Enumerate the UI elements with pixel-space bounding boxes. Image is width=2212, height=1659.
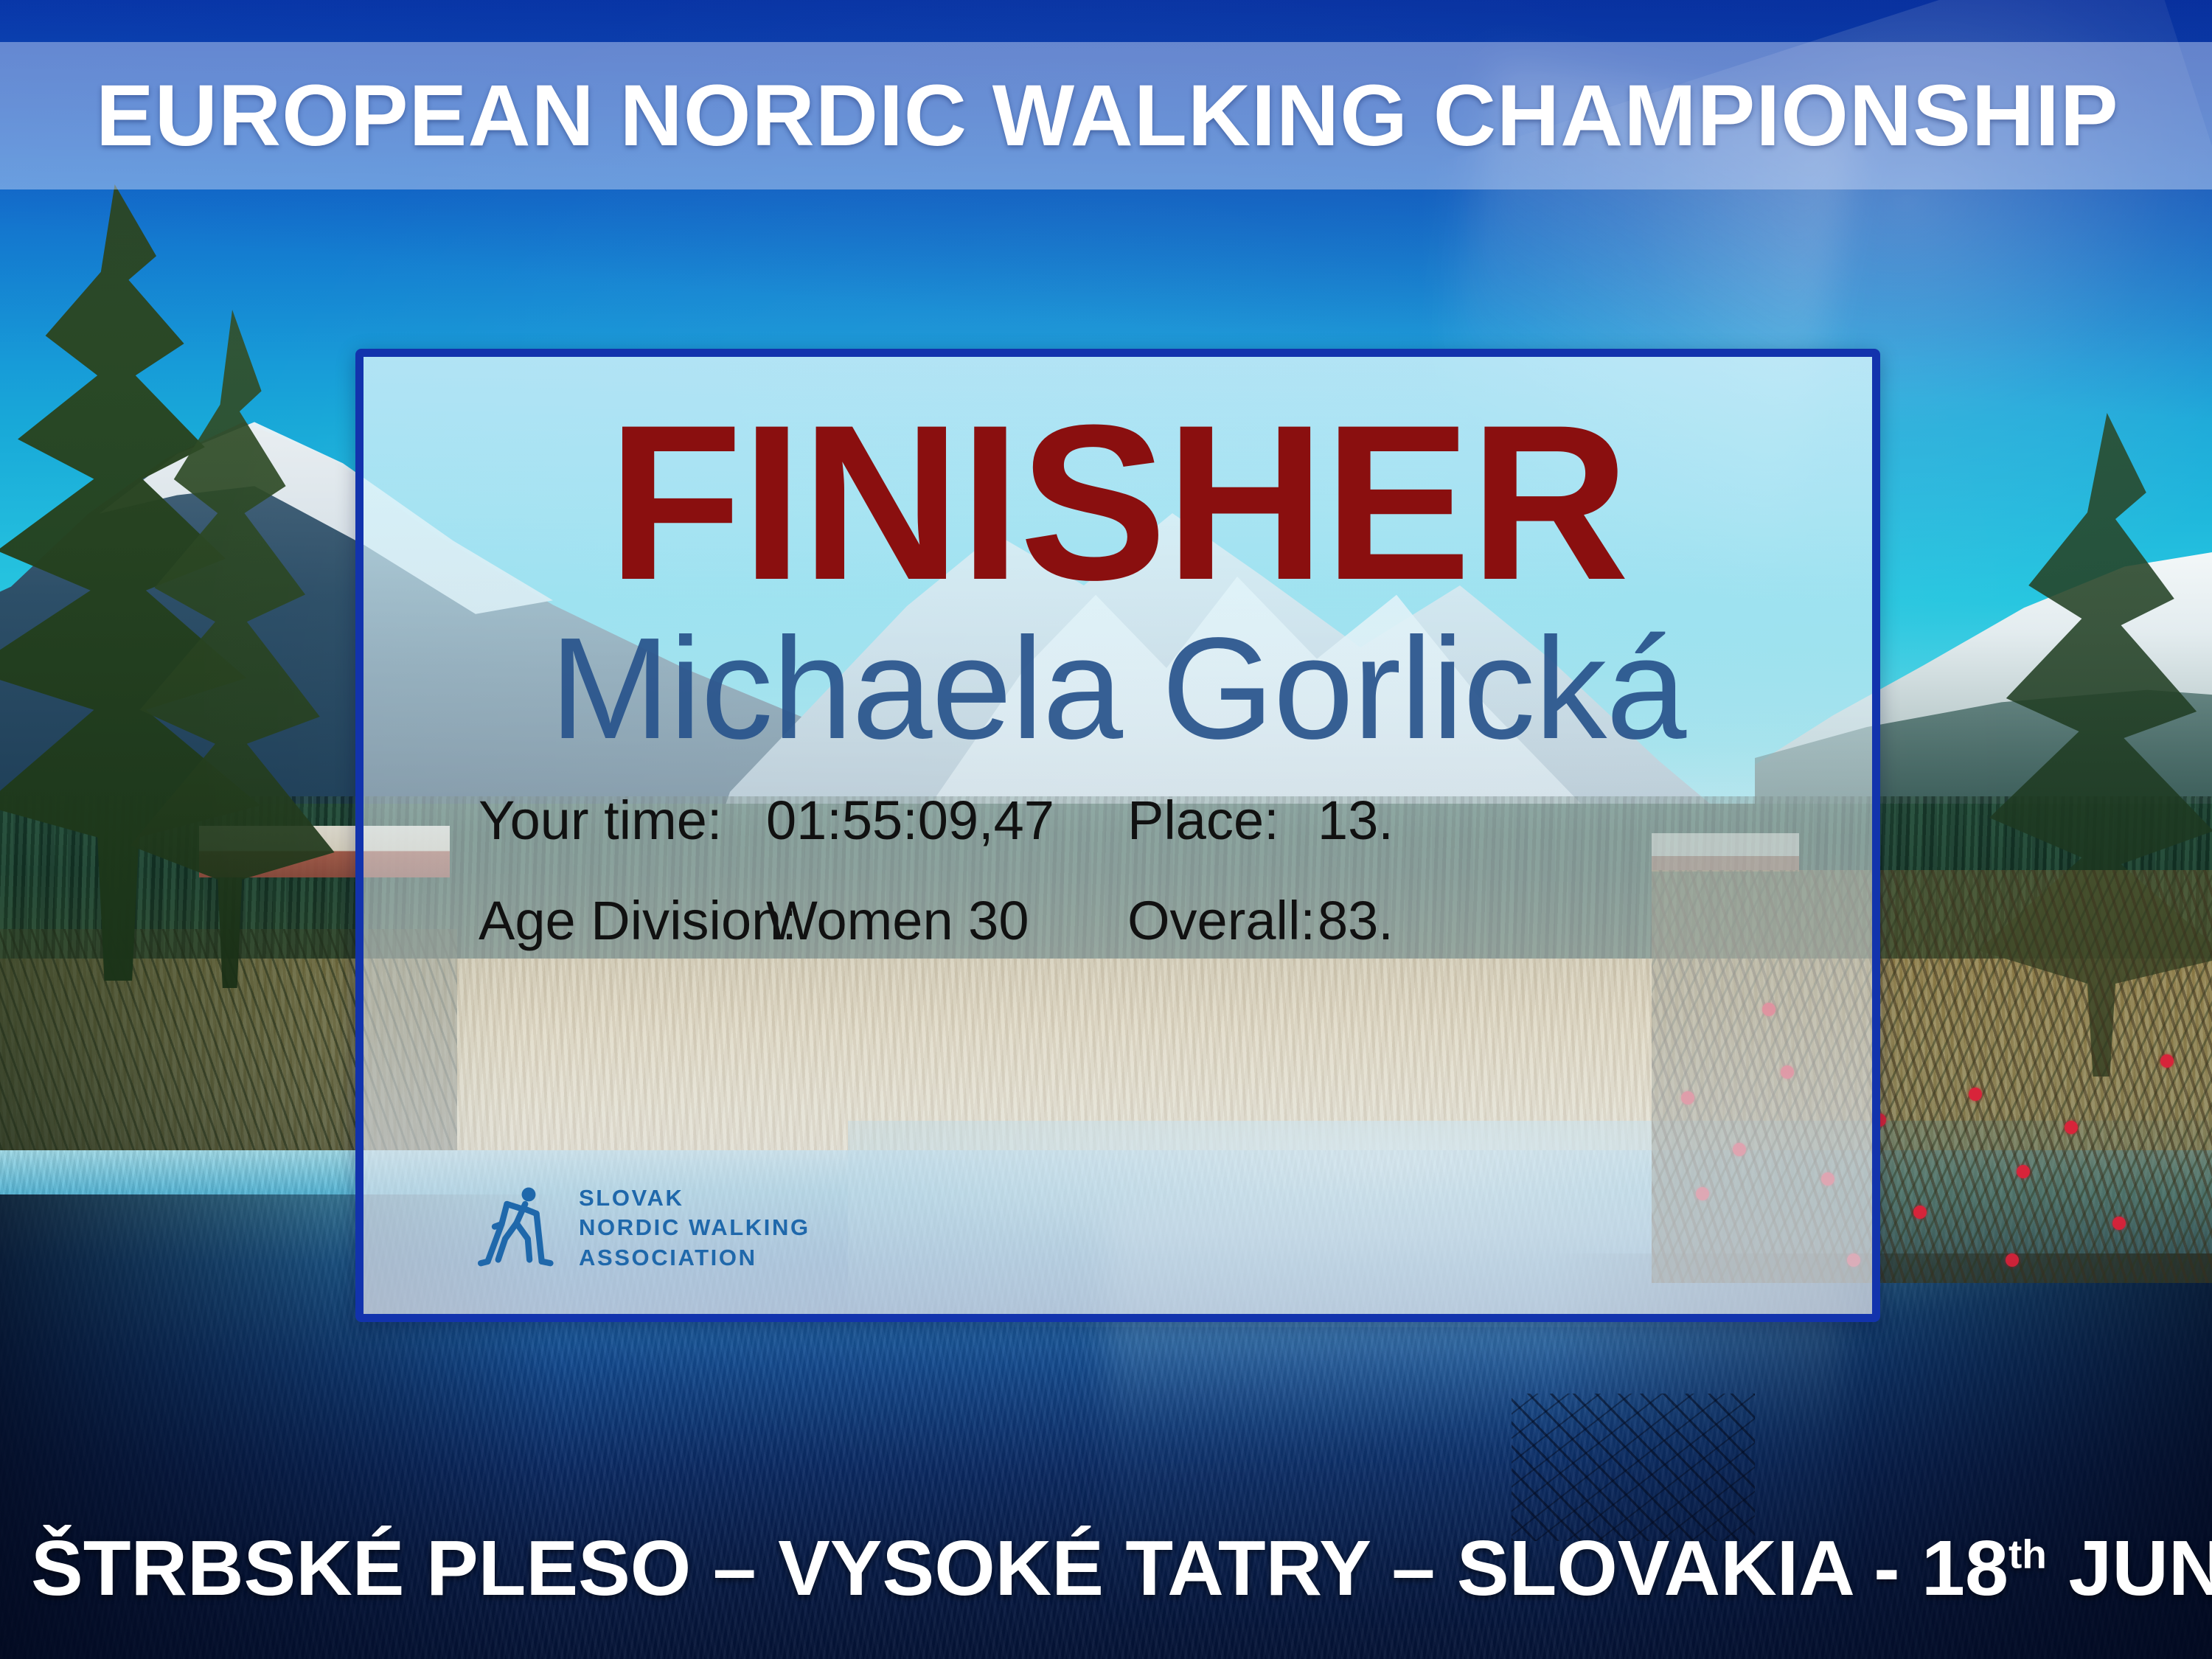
- event-location-date: ŠTRBSKÉ PLESO – VYSOKÉ TATRY – SLOVAKIA …: [31, 1524, 2212, 1613]
- page-title: EUROPEAN NORDIC WALKING CHAMPIONSHIP: [96, 72, 2119, 159]
- result-row-time: Your time: 01:55:09,47 Place: 13.: [479, 793, 1872, 848]
- logo-line-1: SLOVAK: [579, 1183, 810, 1213]
- footer-place-date-post: JUNE 2016: [2047, 1525, 2212, 1612]
- association-logo: SLOVAK NORDIC WALKING ASSOCIATION: [476, 1183, 810, 1273]
- overall-value: 83.: [1318, 894, 1394, 948]
- association-logo-text: SLOVAK NORDIC WALKING ASSOCIATION: [579, 1183, 810, 1273]
- place-label: Place:: [1127, 793, 1318, 848]
- finisher-status-title: FINISHER: [364, 394, 1872, 611]
- place-value: 13.: [1318, 793, 1394, 848]
- your-time-label: Your time:: [479, 793, 766, 848]
- certificate-card: FINISHER Michaela Gorlická Your time: 01…: [355, 349, 1880, 1322]
- age-division-label: Age Division:: [479, 894, 766, 948]
- age-division-value: Women 30: [766, 894, 1127, 948]
- nordic-walker-icon: [476, 1185, 563, 1272]
- result-row-division: Age Division: Women 30 Overall: 83.: [479, 894, 1872, 948]
- result-details: Your time: 01:55:09,47 Place: 13. Age Di…: [364, 793, 1872, 948]
- certificate-card-inner: FINISHER Michaela Gorlická Your time: 01…: [364, 357, 1872, 1314]
- your-time-value: 01:55:09,47: [766, 793, 1127, 848]
- footer-place-date-pre: ŠTRBSKÉ PLESO – VYSOKÉ TATRY – SLOVAKIA …: [31, 1525, 2008, 1612]
- logo-line-2: NORDIC WALKING: [579, 1213, 810, 1242]
- certificate-poster: EUROPEAN NORDIC WALKING CHAMPIONSHIP FIN…: [0, 0, 2212, 1659]
- athlete-name: Michaela Gorlická: [364, 615, 1872, 762]
- footer-ordinal-suffix: th: [2008, 1531, 2047, 1577]
- logo-line-3: ASSOCIATION: [579, 1243, 810, 1273]
- overall-label: Overall:: [1127, 894, 1318, 948]
- header-band: EUROPEAN NORDIC WALKING CHAMPIONSHIP: [0, 42, 2212, 189]
